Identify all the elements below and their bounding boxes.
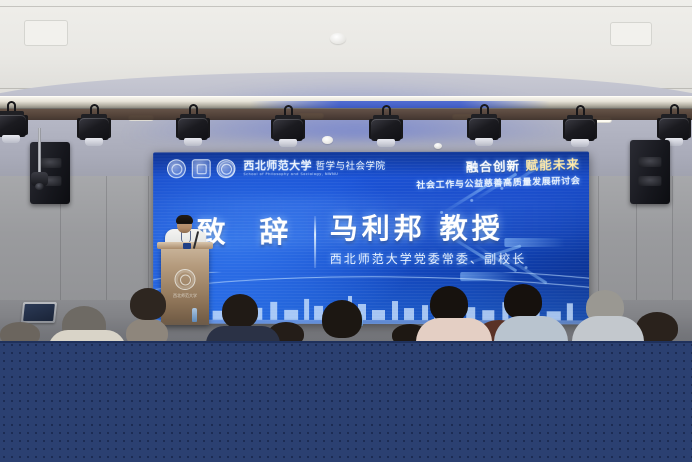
university-crest-icon — [175, 269, 196, 290]
slogan-part-1: 融合创新 — [465, 158, 520, 175]
ceiling-seam — [0, 6, 692, 7]
institution-dept-cn: 哲学与社会学院 — [316, 161, 386, 172]
screen-logo-row: 西北师范大学 哲学与社会学院 School of Philosophy and … — [167, 159, 386, 178]
glasses-icon — [177, 223, 192, 226]
line-array-speaker-right — [630, 140, 670, 204]
water-bottle — [192, 308, 197, 322]
ceiling-panel — [24, 20, 68, 46]
audience-head — [130, 288, 166, 320]
audience-shoulders — [494, 316, 568, 341]
audience-head — [126, 318, 168, 341]
slogan-part-2: 赋能未来 — [525, 156, 580, 173]
speaker-affiliation: 西北师范大学党委常委、副校长 — [330, 250, 527, 267]
audience-shoulders — [48, 330, 126, 341]
institution-name-en: School of Philosophy and Sociology, NWNU — [243, 173, 385, 177]
audience-head — [430, 286, 468, 322]
stage-light-fixture — [176, 104, 210, 148]
institution-name-cn: 西北师范大学 — [243, 159, 312, 172]
camera-lens-icon — [35, 183, 44, 190]
podium-crest-caption: 西北师范大学 — [173, 293, 197, 299]
speaker-title-block: 致 辞 马利邦 教授 西北师范大学党委常委、副校长 — [197, 214, 527, 268]
audience-shoulders — [416, 318, 492, 341]
screenshot-root: 西北师范大学 哲学与社会学院 School of Philosophy and … — [0, 0, 692, 462]
speaker-name: 马利邦 教授 — [330, 214, 527, 244]
stage-light-fixture — [563, 105, 597, 149]
ceiling-sensor — [434, 143, 442, 149]
swirl-emblem-icon — [167, 159, 186, 178]
audience-head — [504, 284, 542, 319]
audience-shoulders — [206, 326, 280, 341]
conference-hall-photo: 西北师范大学 哲学与社会学院 School of Philosophy and … — [0, 0, 692, 341]
speaker-badge — [183, 243, 191, 249]
title-highlight-bar — [504, 238, 564, 247]
book-emblem-icon — [192, 159, 211, 178]
ceiling-panel — [610, 22, 652, 46]
rings-emblem-icon — [217, 159, 236, 178]
title-divider — [314, 216, 316, 268]
podium: 西北师范大学 — [161, 247, 209, 325]
letterbox-area — [0, 341, 692, 462]
audience-head — [322, 300, 362, 338]
ceiling-dome-light — [330, 33, 346, 44]
stage-light-fixture — [271, 105, 305, 149]
ceiling-sensor — [322, 136, 333, 144]
audience-head — [0, 322, 40, 341]
stage-light-fixture — [369, 105, 403, 149]
stage-light-fixture — [467, 104, 501, 148]
event-slogan-block: 融合创新 赋能未来 社会工作与公益慈善高质量发展研讨会 — [415, 153, 580, 191]
stage-light-fixture — [0, 101, 28, 145]
stage-light-fixture — [77, 104, 111, 148]
audience-head — [222, 294, 258, 328]
laptop-device — [21, 302, 57, 323]
letterbox-top-edge — [0, 341, 692, 343]
camera-mount-pole — [38, 128, 41, 176]
